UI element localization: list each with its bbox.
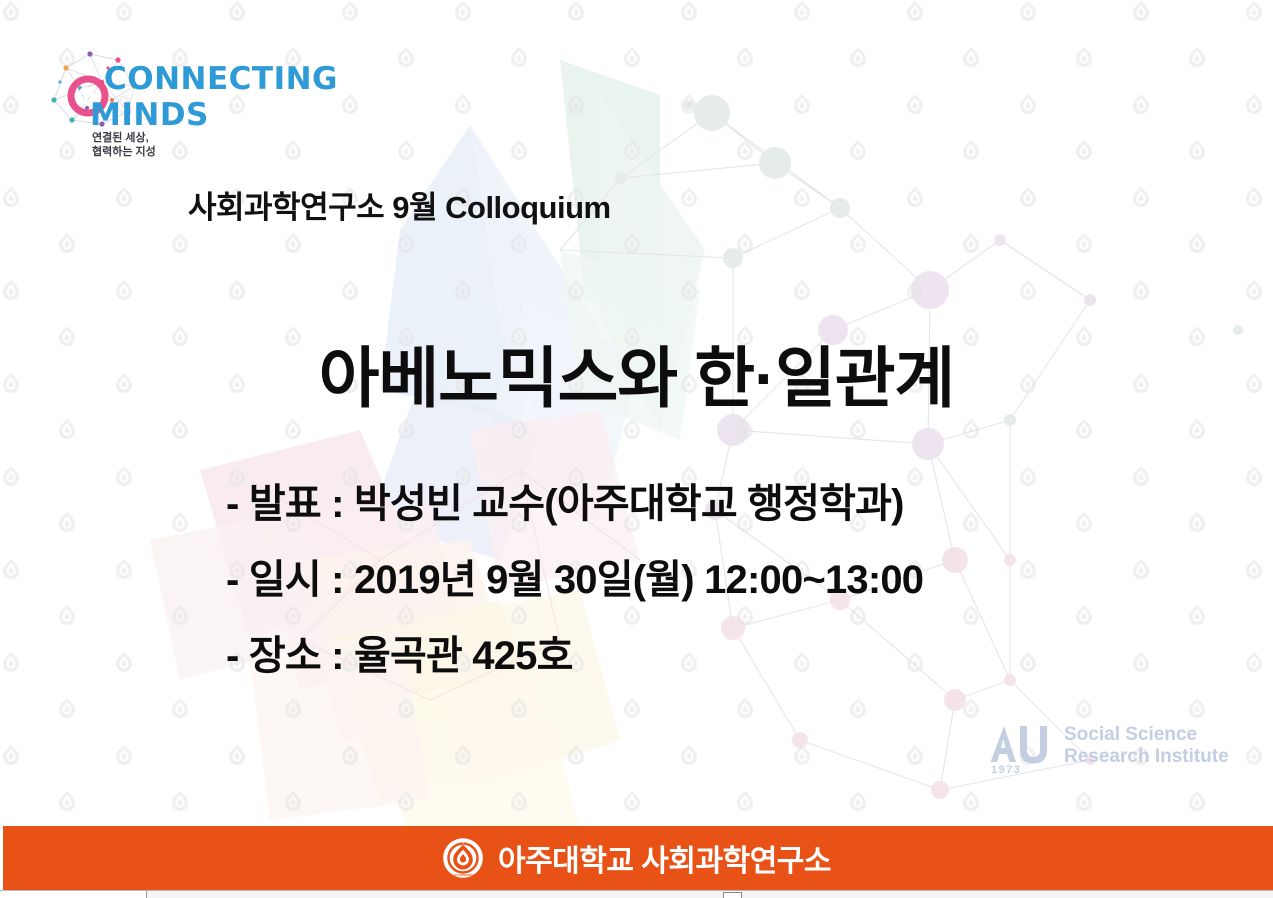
ssri-logo: 1973 Social Science Research Institute <box>988 722 1229 774</box>
poster-details-list: - 발표 : 박성빈 교수(아주대학교 행정학과) - 일시 : 2019년 9… <box>226 484 923 712</box>
ssri-year: 1973 <box>991 764 1021 776</box>
svg-text:AJOU UNIVERSITY: AJOU UNIVERSITY <box>452 874 475 877</box>
footer-bar: 아 주 대 학 교 AJOU UNIVERSITY 아주대학교 사회과학연구소 <box>0 826 1273 890</box>
window-tab-edge[interactable] <box>0 891 147 898</box>
ssri-name: Social Science Research Institute <box>1064 724 1229 773</box>
connecting-minds-logo: CONNECTING MINDS 연결된 세상, 협력하는 지성 <box>42 42 292 162</box>
detail-line-presenter: - 발표 : 박성빈 교수(아주대학교 행정학과) <box>226 484 923 524</box>
ssri-au-monogram: 1973 <box>988 722 1054 774</box>
window-bottom-strip <box>0 890 1273 898</box>
detail-line-datetime: - 일시 : 2019년 9월 30일(월) 12:00~13:00 <box>226 560 923 600</box>
ajou-university-seal-icon: 아 주 대 학 교 AJOU UNIVERSITY <box>442 837 484 879</box>
footer-title: 아주대학교 사회과학연구소 <box>498 836 831 880</box>
detail-line-venue: - 장소 : 율곡관 425호 <box>226 636 923 676</box>
poster-subtitle: 사회과학연구소 9월 Colloquium <box>188 182 611 227</box>
connecting-minds-word2: MINDS <box>90 97 209 133</box>
window-small-box[interactable] <box>723 892 742 898</box>
slide-left-edge <box>0 0 3 890</box>
connecting-minds-word1: CONNECTING <box>104 64 338 94</box>
presentation-slide: CONNECTING MINDS 연결된 세상, 협력하는 지성 사회과학연구소… <box>0 0 1273 898</box>
connecting-minds-tagline: 연결된 세상, 협력하는 지성 <box>92 132 156 160</box>
svg-text:아 주 대 학 교: 아 주 대 학 교 <box>455 839 472 844</box>
poster-title: 아베노믹스와 한·일관계 <box>0 325 1273 421</box>
